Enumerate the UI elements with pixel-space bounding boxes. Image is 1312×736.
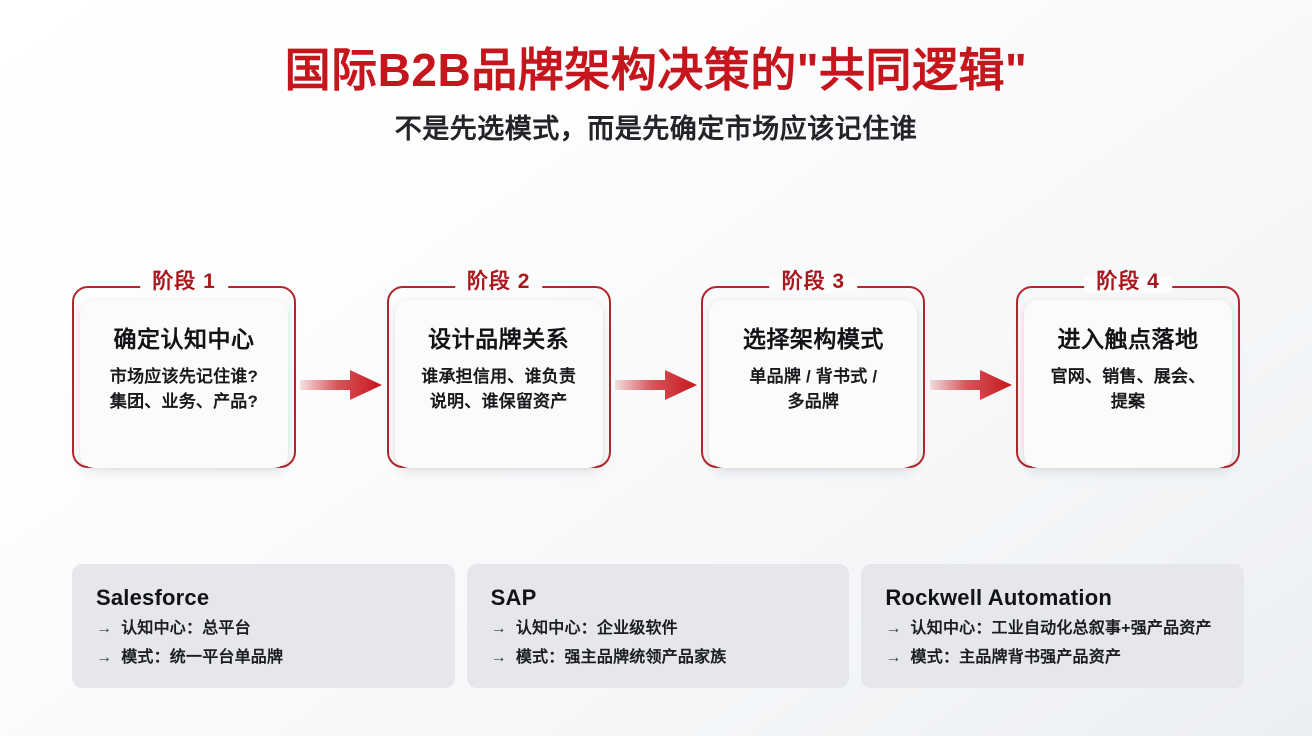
example-detail-text: 模式：强主品牌统领产品家族: [516, 648, 727, 668]
example-detail-row: → 模式：统一平台单品牌: [96, 648, 431, 668]
stage-label-3: 阶段 3: [770, 271, 858, 292]
arrow-right-glyph-icon: →: [96, 621, 112, 637]
example-detail-text: 认知中心：工业自动化总叙事+强产品资产: [911, 619, 1212, 639]
stage-label-2: 阶段 2: [455, 271, 543, 292]
arrow-right-glyph-icon: →: [491, 650, 507, 666]
stage-desc-1: 市场应该先记住谁? 集团、业务、产品?: [110, 364, 258, 415]
arrow-gap-1: [296, 286, 387, 482]
stage-heading-4: 进入触点落地: [1058, 326, 1199, 354]
stage-desc-2: 谁承担信用、谁负责 说明、谁保留资产: [421, 364, 576, 415]
right-arrow-icon: [930, 368, 1012, 402]
example-brand-name: SAP: [491, 586, 826, 610]
example-detail-row: → 模式：主品牌背书强产品资产: [885, 648, 1220, 668]
page-title: 国际B2B品牌架构决策的"共同逻辑": [0, 44, 1312, 97]
stage-desc-line: 市场应该先记住谁?: [110, 364, 258, 390]
example-panels: Salesforce → 认知中心：总平台 → 模式：统一平台单品牌 SAP →…: [72, 564, 1244, 688]
slide-header: 国际B2B品牌架构决策的"共同逻辑" 不是先选模式，而是先确定市场应该记住谁: [0, 44, 1312, 145]
example-card-rockwell[interactable]: Rockwell Automation → 认知中心：工业自动化总叙事+强产品资…: [861, 564, 1244, 688]
example-detail-row: → 模式：强主品牌统领产品家族: [491, 648, 826, 668]
example-detail-text: 认知中心：总平台: [121, 619, 251, 639]
example-detail-row: → 认知中心：总平台: [96, 619, 431, 639]
example-detail-row: → 认知中心：企业级软件: [491, 619, 826, 639]
example-brand-name: Salesforce: [96, 586, 431, 610]
stage-heading-2: 设计品牌关系: [428, 326, 569, 354]
stage-block-3[interactable]: 阶段 3 选择架构模式 单品牌 / 背书式 / 多品牌: [701, 286, 925, 482]
stage-desc-line: 多品牌: [749, 389, 877, 415]
example-detail-text: 模式：统一平台单品牌: [121, 648, 283, 668]
stage-desc-line: 单品牌 / 背书式 /: [749, 364, 877, 390]
example-detail-text: 认知中心：企业级软件: [516, 619, 678, 639]
stage-desc-line: 官网、销售、展会、: [1051, 364, 1206, 390]
stage-desc-line: 集团、业务、产品?: [110, 389, 258, 415]
right-arrow-icon: [300, 368, 382, 402]
stage-card-3[interactable]: 选择架构模式 单品牌 / 背书式 / 多品牌: [709, 300, 917, 468]
example-card-salesforce[interactable]: Salesforce → 认知中心：总平台 → 模式：统一平台单品牌: [72, 564, 455, 688]
stage-desc-3: 单品牌 / 背书式 / 多品牌: [749, 364, 877, 415]
slide-root: 国际B2B品牌架构决策的"共同逻辑" 不是先选模式，而是先确定市场应该记住谁 阶…: [0, 0, 1312, 736]
stage-desc-4: 官网、销售、展会、 提案: [1051, 364, 1206, 415]
stage-heading-3: 选择架构模式: [743, 326, 884, 354]
example-card-sap[interactable]: SAP → 认知中心：企业级软件 → 模式：强主品牌统领产品家族: [467, 564, 850, 688]
stage-desc-line: 提案: [1051, 389, 1206, 415]
arrow-right-glyph-icon: →: [491, 621, 507, 637]
arrow-gap-3: [925, 286, 1016, 482]
right-arrow-icon: [615, 368, 697, 402]
example-detail-row: → 认知中心：工业自动化总叙事+强产品资产: [885, 619, 1220, 639]
stage-desc-line: 说明、谁保留资产: [421, 389, 576, 415]
arrow-right-glyph-icon: →: [885, 650, 901, 666]
stage-card-2[interactable]: 设计品牌关系 谁承担信用、谁负责 说明、谁保留资产: [395, 300, 603, 468]
stage-block-4[interactable]: 阶段 4 进入触点落地 官网、销售、展会、 提案: [1016, 286, 1240, 482]
stage-card-1[interactable]: 确定认知中心 市场应该先记住谁? 集团、业务、产品?: [80, 300, 288, 468]
stage-card-4[interactable]: 进入触点落地 官网、销售、展会、 提案: [1024, 300, 1232, 468]
stage-label-1: 阶段 1: [140, 271, 228, 292]
page-subtitle: 不是先选模式，而是先确定市场应该记住谁: [0, 113, 1312, 145]
stage-heading-1: 确定认知中心: [114, 326, 255, 354]
stage-flow: 阶段 1 确定认知中心 市场应该先记住谁? 集团、业务、产品?: [72, 286, 1240, 482]
arrow-gap-2: [611, 286, 702, 482]
stage-label-4: 阶段 4: [1084, 271, 1172, 292]
stage-block-1[interactable]: 阶段 1 确定认知中心 市场应该先记住谁? 集团、业务、产品?: [72, 286, 296, 482]
example-detail-text: 模式：主品牌背书强产品资产: [911, 648, 1122, 668]
arrow-right-glyph-icon: →: [96, 650, 112, 666]
stage-desc-line: 谁承担信用、谁负责: [421, 364, 576, 390]
stage-block-2[interactable]: 阶段 2 设计品牌关系 谁承担信用、谁负责 说明、谁保留资产: [387, 286, 611, 482]
example-brand-name: Rockwell Automation: [885, 586, 1220, 610]
arrow-right-glyph-icon: →: [885, 621, 901, 637]
